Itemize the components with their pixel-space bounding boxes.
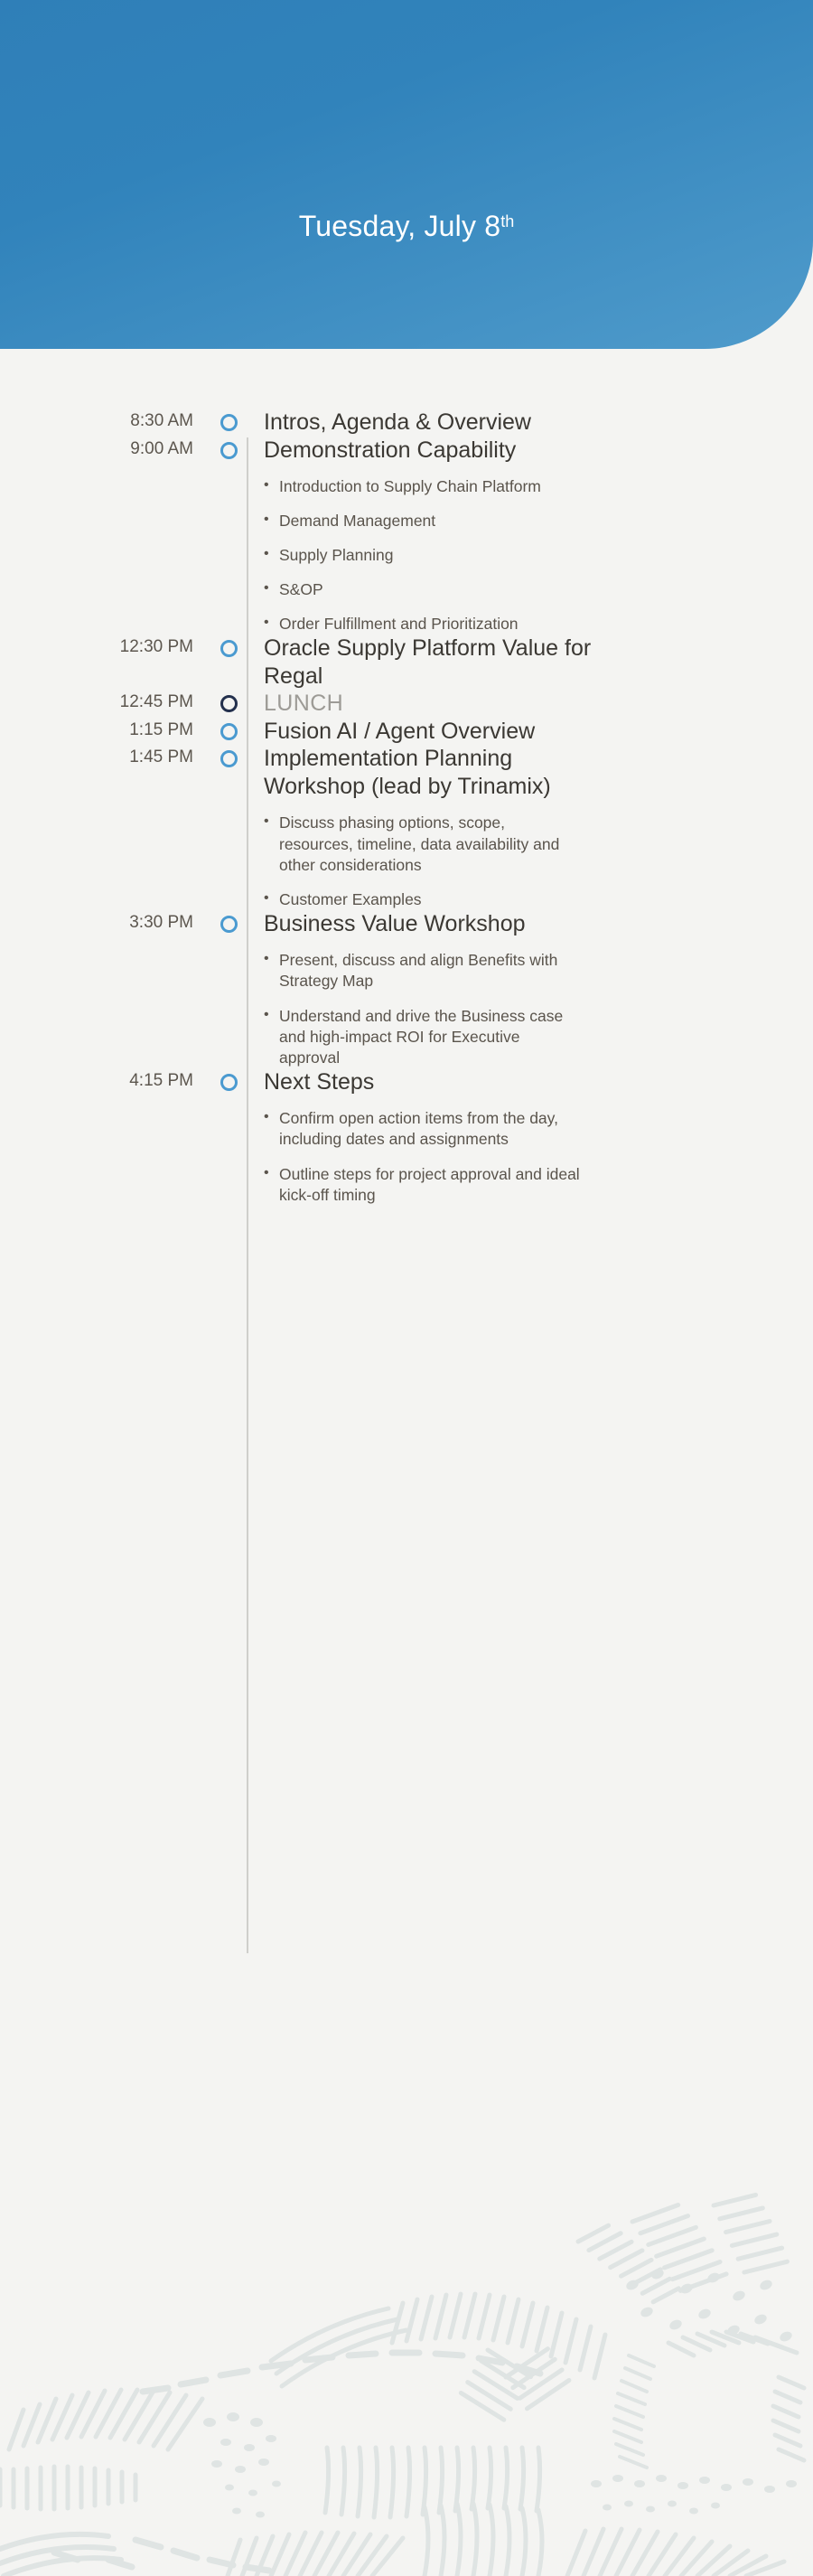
agenda-title: Fusion AI / Agent Overview [264, 718, 607, 746]
agenda-bullet-list: Present, discuss and align Benefits with… [264, 950, 759, 1067]
header-band: Tuesday, July 8th [0, 0, 813, 349]
agenda-content: Intros, Agenda & Overview [248, 409, 813, 437]
timeline-ring-icon-lunch [220, 695, 238, 712]
list-item: Supply Planning [264, 545, 582, 566]
agenda-content: Business Value Workshop Present, discuss… [248, 910, 813, 1068]
list-item: Order Fulfillment and Prioritization [264, 614, 582, 635]
agenda-time: 9:00 AM [0, 437, 210, 459]
agenda-row-lunch[interactable]: 12:45 PM LUNCH [0, 690, 813, 718]
agenda-title: LUNCH [264, 690, 607, 718]
page-title-ordinal: th [500, 212, 514, 230]
agenda-content: Implementation Planning Workshop (lead b… [248, 745, 813, 909]
agenda-content: LUNCH [248, 690, 813, 718]
agenda-time: 1:15 PM [0, 718, 210, 740]
agenda-time: 3:30 PM [0, 910, 210, 933]
agenda-title: Intros, Agenda & Overview [264, 409, 607, 437]
agenda-content: Oracle Supply Platform Value for Regal [248, 635, 813, 690]
agenda-row[interactable]: 1:15 PM Fusion AI / Agent Overview [0, 718, 813, 746]
agenda-content: Fusion AI / Agent Overview [248, 718, 813, 746]
agenda-content: Demonstration Capability Introduction to… [248, 437, 813, 635]
agenda-time: 1:45 PM [0, 745, 210, 767]
agenda-row[interactable]: 4:15 PM Next Steps Confirm open action i… [0, 1068, 813, 1206]
agenda-time: 8:30 AM [0, 409, 210, 431]
agenda-title: Implementation Planning Workshop (lead b… [264, 745, 607, 800]
agenda-row[interactable]: 12:30 PM Oracle Supply Platform Value fo… [0, 635, 813, 690]
agenda-row[interactable]: 1:45 PM Implementation Planning Workshop… [0, 745, 813, 909]
timeline-ring-icon [220, 414, 238, 431]
agenda-bullet-list: Confirm open action items from the day, … [264, 1108, 759, 1205]
timeline-marker-slot [210, 690, 248, 712]
agenda-time: 4:15 PM [0, 1068, 210, 1091]
timeline-ring-icon [220, 750, 238, 767]
timeline-ring-icon [220, 640, 238, 657]
timeline-ring-icon [220, 1074, 238, 1091]
list-item: Introduction to Supply Chain Platform [264, 476, 582, 497]
timeline: 8:30 AM Intros, Agenda & Overview 9:00 A… [0, 349, 813, 1206]
agenda-slide: Tuesday, July 8th [0, 0, 813, 2576]
agenda-time: 12:45 PM [0, 690, 210, 712]
timeline-marker-slot [210, 409, 248, 431]
list-item: Demand Management [264, 511, 582, 531]
timeline-marker-slot [210, 1068, 248, 1091]
agenda-title: Oracle Supply Platform Value for Regal [264, 635, 607, 690]
agenda-row[interactable]: 3:30 PM Business Value Workshop Present,… [0, 910, 813, 1068]
list-item: Confirm open action items from the day, … [264, 1108, 582, 1150]
agenda-bullet-list: Introduction to Supply Chain Platform De… [264, 476, 759, 635]
timeline-marker-slot [210, 745, 248, 767]
timeline-ring-icon [220, 442, 238, 459]
timeline-marker-slot [210, 910, 248, 933]
page-title-text: Tuesday, July 8 [299, 210, 501, 242]
agenda-body: 8:30 AM Intros, Agenda & Overview 9:00 A… [0, 349, 813, 2576]
agenda-title: Demonstration Capability [264, 437, 607, 465]
list-item: Understand and drive the Business case a… [264, 1006, 582, 1068]
agenda-title: Next Steps [264, 1068, 607, 1096]
timeline-marker-slot [210, 635, 248, 657]
list-item: Outline steps for project approval and i… [264, 1164, 582, 1206]
timeline-ring-icon [220, 916, 238, 933]
list-item: Customer Examples [264, 889, 582, 910]
list-item: Discuss phasing options, scope, resource… [264, 813, 582, 875]
agenda-bullet-list: Discuss phasing options, scope, resource… [264, 813, 759, 909]
page-title: Tuesday, July 8th [0, 210, 813, 243]
timeline-marker-slot [210, 437, 248, 459]
timeline-ring-icon [220, 723, 238, 740]
timeline-marker-slot [210, 718, 248, 740]
agenda-time: 12:30 PM [0, 635, 210, 657]
agenda-content: Next Steps Confirm open action items fro… [248, 1068, 813, 1206]
list-item: Present, discuss and align Benefits with… [264, 950, 582, 992]
agenda-row[interactable]: 9:00 AM Demonstration Capability Introdu… [0, 437, 813, 635]
agenda-title: Business Value Workshop [264, 910, 607, 938]
agenda-row[interactable]: 8:30 AM Intros, Agenda & Overview [0, 409, 813, 437]
list-item: S&OP [264, 579, 582, 600]
